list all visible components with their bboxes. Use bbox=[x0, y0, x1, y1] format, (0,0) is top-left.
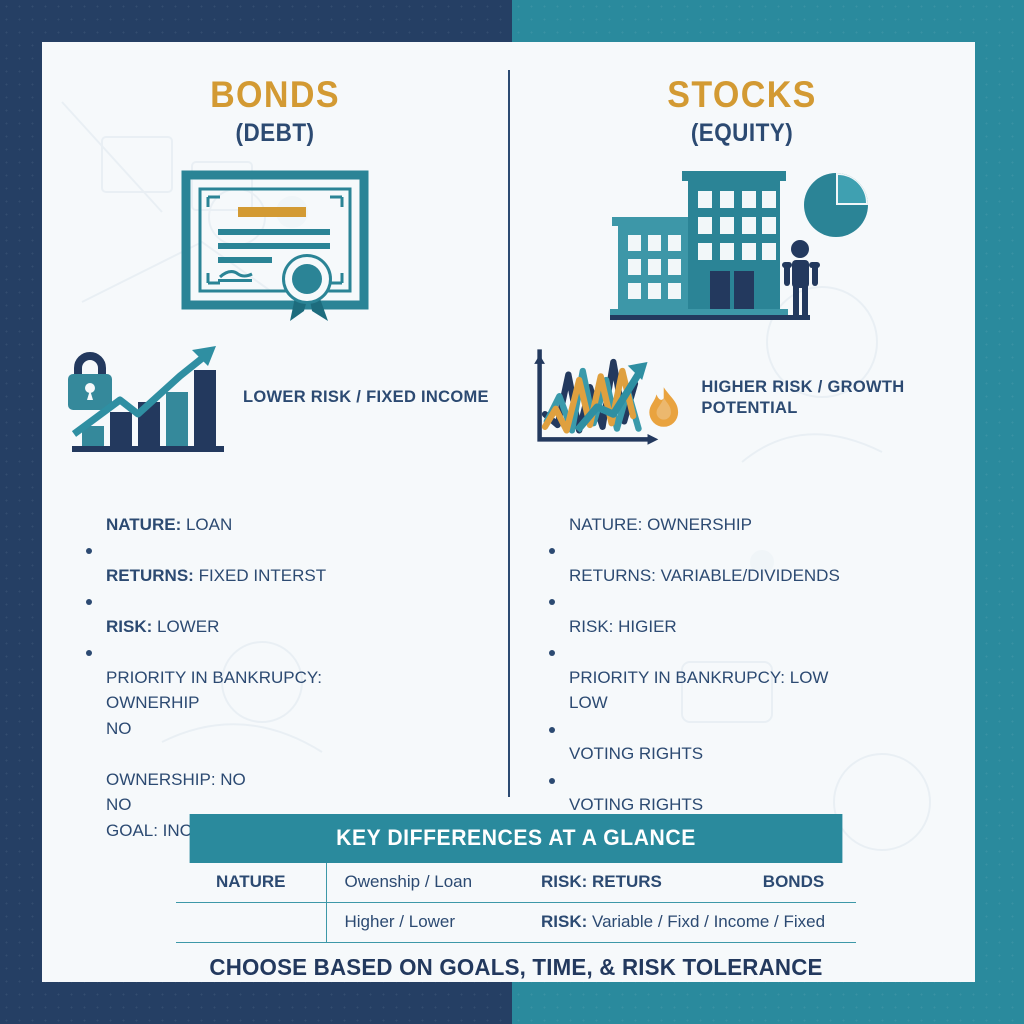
cell-middle: Higher / Lower bbox=[326, 903, 541, 943]
list-item: NATURE: LOAN bbox=[82, 486, 508, 537]
person-icon bbox=[782, 240, 820, 317]
key-differences-table: NATURE Owenship / Loan RISK: RETURS BOND… bbox=[176, 863, 856, 943]
list-item: PRIORITY IN BANKRUPCY: OWNERHIP NO bbox=[82, 639, 508, 741]
bonds-title: BONDS bbox=[61, 74, 490, 116]
footer-tagline: CHOOSE BASED ON GOALS, TIME, & RISK TOLE… bbox=[186, 954, 846, 981]
volatile-line-chart-flame-icon bbox=[527, 338, 693, 458]
pie-chart-icon bbox=[804, 173, 868, 237]
cell-nature: NATURE bbox=[176, 863, 326, 903]
cell-middle: Owenship / Loan bbox=[326, 863, 541, 903]
list-item-value: RISK: HIGIER bbox=[569, 617, 677, 636]
stocks-risk-row: HIGHER RISK / GROWTH POTENTIAL bbox=[509, 338, 975, 458]
list-item-value: VOTING RIGHTS bbox=[569, 744, 703, 763]
comparison-columns: BONDS (DEBT) bbox=[42, 42, 975, 802]
stocks-risk-caption: HIGHER RISK / GROWTH POTENTIAL bbox=[701, 377, 975, 419]
cell-risk-label: RISK: RETURS bbox=[541, 872, 662, 891]
bonds-risk-row: LOWER RISK / FIXED INCOME bbox=[42, 338, 508, 458]
bonds-risk-caption: LOWER RISK / FIXED INCOME bbox=[243, 387, 489, 408]
list-item-label: NATURE: bbox=[106, 515, 181, 534]
office-buildings-pie-person-icon bbox=[610, 165, 875, 330]
list-item: RISK: LOWER bbox=[82, 588, 508, 639]
stocks-hero bbox=[509, 162, 975, 332]
list-item: RISK: HIGIER bbox=[545, 588, 975, 639]
key-differences-section: KEY DIFFERENCES AT A GLANCE NATURE Owens… bbox=[176, 814, 856, 981]
lock-icon bbox=[68, 356, 112, 410]
table-row: Higher / Lower RISK: Variable / Fixd / I… bbox=[176, 903, 856, 943]
list-item-value: PRIORITY IN BANKRUPCY: OWNERHIP NO bbox=[106, 668, 322, 738]
certificate-icon bbox=[180, 167, 370, 327]
list-item-value: LOWER bbox=[152, 617, 219, 636]
list-item-value: LOAN bbox=[181, 515, 232, 534]
table-row: NATURE Owenship / Loan RISK: RETURS BOND… bbox=[176, 863, 856, 903]
cell-risk: RISK: RETURS bbox=[541, 863, 731, 903]
list-item-label: RISK: bbox=[106, 617, 152, 636]
cell-risk-value: Variable / Fixd / Income / Fixed bbox=[587, 912, 825, 931]
sparkle-icon bbox=[960, 962, 975, 982]
list-item-value: PRIORITY IN BANKRUPCY: LOW LOW bbox=[569, 668, 828, 713]
list-item: NATURE: OWNERSHIP bbox=[545, 486, 975, 537]
list-item: RETURNS: VARIABLE/DIVIDENDS bbox=[545, 537, 975, 588]
flame-icon bbox=[649, 387, 678, 427]
list-item-value: NATURE: OWNERSHIP bbox=[569, 515, 752, 534]
bonds-bullet-list: NATURE: LOAN RETURNS: FIXED INTERST RISK… bbox=[42, 486, 508, 843]
cell-last: BONDS bbox=[731, 863, 856, 903]
list-item: RETURNS: FIXED INTERST bbox=[82, 537, 508, 588]
infographic-card: BONDS (DEBT) bbox=[42, 42, 975, 982]
lock-growth-chart-icon bbox=[60, 338, 235, 458]
cell-risk-label: RISK: bbox=[541, 912, 587, 931]
stocks-subtitle: (EQUITY) bbox=[532, 119, 951, 148]
column-bonds: BONDS (DEBT) bbox=[42, 42, 508, 802]
bonds-hero bbox=[42, 162, 508, 332]
column-stocks: STOCKS (EQUITY) bbox=[509, 42, 975, 802]
list-item: VOTING RIGHTS bbox=[545, 716, 975, 767]
cell-risk: RISK: Variable / Fixd / Income / Fixed bbox=[541, 903, 856, 943]
list-item-value: FIXED INTERST bbox=[194, 566, 326, 585]
cell-nature bbox=[176, 903, 326, 943]
bonds-subtitle: (DEBT) bbox=[65, 119, 484, 148]
list-item: PRIORITY IN BANKRUPCY: LOW LOW bbox=[545, 639, 975, 716]
key-differences-header: KEY DIFFERENCES AT A GLANCE bbox=[190, 814, 843, 863]
list-item-value: RETURNS: VARIABLE/DIVIDENDS bbox=[569, 566, 840, 585]
stocks-title: STOCKS bbox=[528, 74, 957, 116]
list-item-label: RETURNS: bbox=[106, 566, 194, 585]
